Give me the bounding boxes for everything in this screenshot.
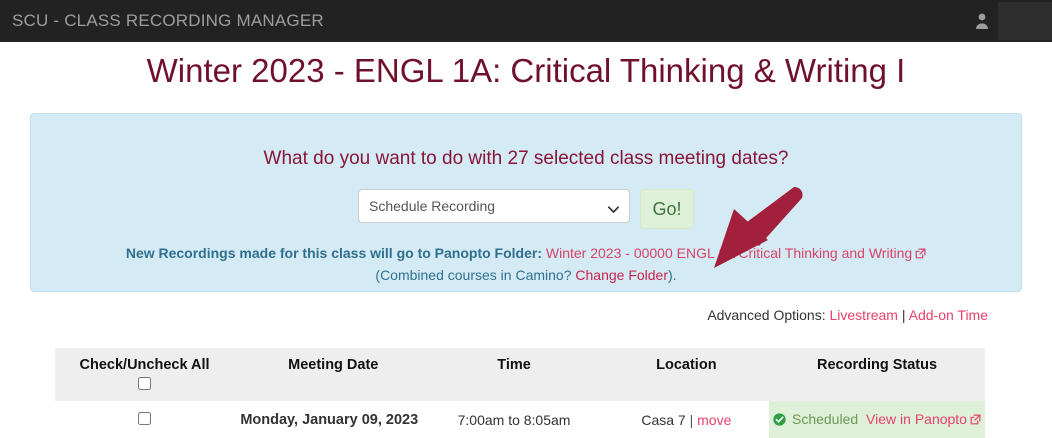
- row-location-name: Casa 7: [641, 412, 685, 428]
- column-header-check-all: Check/Uncheck All: [55, 348, 234, 376]
- column-header-recording-status: Recording Status: [769, 348, 985, 376]
- row-select-checkbox[interactable]: [138, 412, 151, 425]
- navbar-brand[interactable]: SCU - CLASS RECORDING MANAGER: [0, 11, 324, 31]
- combined-courses-line: (Combined courses in Camino? Change Fold…: [31, 267, 1021, 283]
- action-select[interactable]: Schedule Recording: [358, 189, 630, 223]
- panopto-folder-link[interactable]: Winter 2023 - 00000 ENGL 1A Critical Thi…: [546, 245, 926, 261]
- external-link-icon: [970, 412, 981, 428]
- row-meeting-date: Monday, January 09, 2023: [234, 401, 424, 438]
- recordings-table: Check/Uncheck All Meeting Date Time Loca…: [55, 348, 985, 438]
- check-all-spacer-time: [424, 376, 603, 401]
- check-all-spacer-status: [769, 376, 985, 401]
- panel-controls: Schedule Recording Go!: [31, 189, 1021, 229]
- row-recording-status: Scheduled View in Panopto: [769, 401, 985, 438]
- user-icon: [974, 12, 990, 30]
- check-all-row: [55, 376, 985, 401]
- column-header-time: Time: [424, 348, 603, 376]
- username-redacted[interactable]: [998, 2, 1052, 40]
- table-row: Monday, January 09, 2023 7:00am to 8:05a…: [55, 401, 985, 438]
- go-button[interactable]: Go!: [640, 189, 694, 229]
- change-folder-link[interactable]: Change Folder: [575, 267, 668, 283]
- check-all-spacer-location: [604, 376, 769, 401]
- page-title: Winter 2023 - ENGL 1A: Critical Thinking…: [0, 52, 1052, 90]
- combined-courses-suffix: ).: [668, 267, 677, 283]
- table-body: Monday, January 09, 2023 7:00am to 8:05a…: [55, 401, 985, 438]
- advanced-options: Advanced Options: Livestream | Add-on Ti…: [707, 307, 988, 323]
- panopto-folder-label: New Recordings made for this class will …: [126, 245, 542, 261]
- action-panel: What do you want to do with 27 selected …: [30, 113, 1022, 292]
- view-in-panopto-link[interactable]: View in Panopto: [866, 411, 981, 427]
- column-header-meeting-date: Meeting Date: [234, 348, 424, 376]
- row-location-separator: |: [690, 412, 694, 428]
- move-location-link[interactable]: move: [697, 412, 731, 428]
- row-time: 7:00am to 8:05am: [424, 401, 603, 438]
- column-header-location: Location: [604, 348, 769, 376]
- check-circle-icon: [773, 411, 790, 427]
- advanced-options-label: Advanced Options:: [707, 307, 825, 323]
- check-all-cell[interactable]: [55, 376, 234, 401]
- row-checkbox-cell[interactable]: [55, 401, 234, 438]
- livestream-link[interactable]: Livestream: [830, 307, 898, 323]
- addon-time-link[interactable]: Add-on Time: [909, 307, 988, 323]
- external-link-icon: [915, 246, 926, 262]
- advanced-options-separator: |: [902, 307, 906, 323]
- row-location: Casa 7 | move: [604, 401, 769, 438]
- navbar-user-area[interactable]: [974, 0, 1052, 42]
- panopto-folder-line: New Recordings made for this class will …: [31, 245, 1021, 262]
- check-uncheck-all-checkbox[interactable]: [138, 377, 151, 390]
- top-navbar: SCU - CLASS RECORDING MANAGER: [0, 0, 1052, 42]
- panopto-folder-link-text: Winter 2023 - 00000 ENGL 1A Critical Thi…: [546, 245, 912, 261]
- table-header: Check/Uncheck All Meeting Date Time Loca…: [55, 348, 985, 401]
- view-in-panopto-text: View in Panopto: [866, 411, 967, 427]
- action-select-wrapper[interactable]: Schedule Recording: [358, 189, 630, 223]
- panel-question: What do you want to do with 27 selected …: [31, 148, 1021, 170]
- table-header-row: Check/Uncheck All Meeting Date Time Loca…: [55, 348, 985, 376]
- status-badge: Scheduled: [792, 411, 858, 427]
- check-all-spacer-date: [234, 376, 424, 401]
- combined-courses-prefix: (Combined courses in Camino?: [375, 267, 575, 283]
